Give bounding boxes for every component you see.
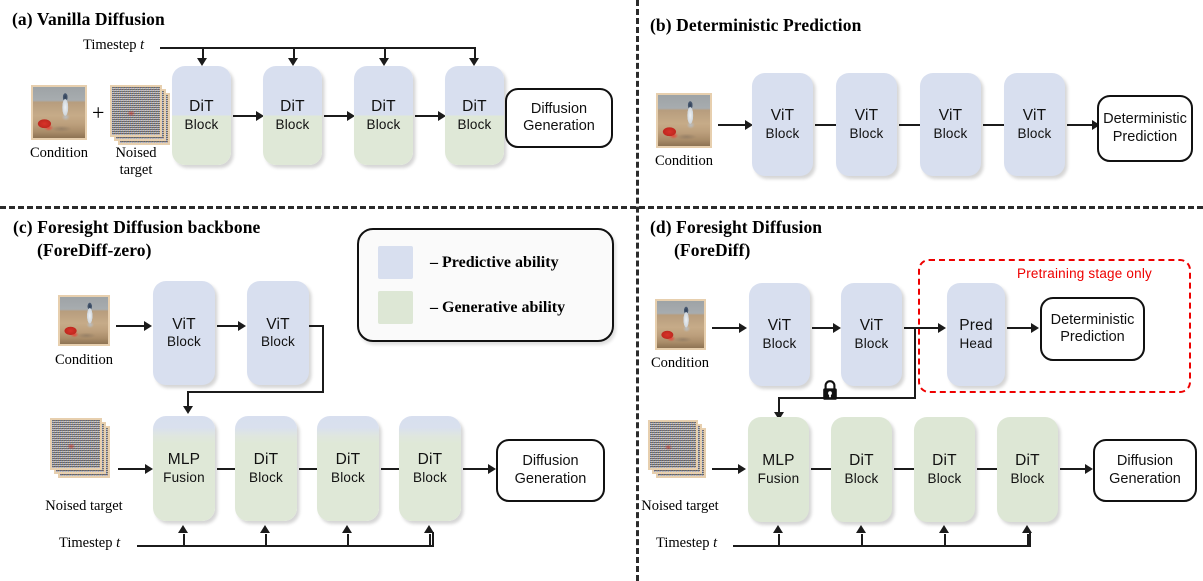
panel-d-vit-block-2[interactable]: ViT Block [841, 283, 902, 386]
panel-d-branch-v [914, 327, 916, 399]
panel-c-vit-block-1[interactable]: ViT Block [153, 281, 215, 385]
panel-c-title-line1: (c) Foresight Diffusion backbone [13, 216, 260, 239]
panel-d-vit-1-line2: Block [762, 337, 796, 351]
panel-c-dit-1-line1: DiT [254, 452, 279, 468]
panel-a-block-1-line2: Block [184, 118, 218, 132]
panel-d-det-output-box[interactable]: Deterministic Prediction [1040, 297, 1145, 361]
panel-d-out-arrow [1085, 464, 1093, 474]
panel-c-t-riser-4 [429, 534, 431, 546]
panel-c-title-line2: (ForeDiff-zero) [37, 239, 152, 262]
legend-item-predictive: – Predictive ability [378, 246, 559, 279]
panel-a-block-3-line1: DiT [371, 99, 396, 115]
panel-d-det-line [1007, 327, 1032, 329]
panel-a-link-1 [233, 115, 257, 117]
panel-d-det-line1: Deterministic [1051, 312, 1135, 329]
panel-d-t-riser-4 [1027, 534, 1029, 546]
panel-c-noised-caption: Noised target [32, 498, 136, 514]
panel-d-title-line1: (d) Foresight Diffusion [650, 216, 822, 239]
panel-d-noise-line [712, 468, 739, 470]
panel-c-t-riser-3 [347, 534, 349, 546]
panel-b-block-4-line2: Block [1017, 127, 1051, 141]
legend-label-generative: – Generative ability [430, 299, 565, 317]
panel-c-vit-link [217, 325, 239, 327]
panel-d-t-arrow-4 [1022, 525, 1032, 533]
panel-b-block-4[interactable]: ViT Block [1004, 73, 1065, 176]
panel-d-mlp-line1: MLP [762, 453, 794, 469]
panel-b-block-1-line2: Block [765, 127, 799, 141]
panel-c-dit-block-2[interactable]: DiT Block [317, 416, 379, 521]
panel-b-out-line [1067, 124, 1093, 126]
panel-a-link-2 [324, 115, 348, 117]
panel-d-dlink-2 [894, 468, 916, 470]
panel-d-mlp-line2: Fusion [758, 472, 800, 486]
lock-icon [820, 379, 838, 399]
panel-a-block-3[interactable]: DiT Block [354, 66, 413, 165]
panel-a-title: (a) Vanilla Diffusion [12, 8, 165, 31]
panel-d-title-line2: (ForeDiff) [674, 239, 750, 262]
panel-d-t-riser-3 [944, 534, 946, 546]
panel-b-block-2-line1: ViT [855, 108, 879, 124]
panel-d-noised-caption: Noised target [628, 498, 732, 514]
panel-a-block-4[interactable]: DiT Block [445, 66, 504, 165]
panel-d-dit-block-3[interactable]: DiT Block [997, 417, 1058, 522]
legend-swatch-predictive [378, 246, 413, 279]
panel-c-output-line1: Diffusion [515, 453, 587, 470]
panel-d-t-arrow-2 [856, 525, 866, 533]
panel-a-timestep-bus [160, 47, 476, 49]
panel-b-block-3-line1: ViT [939, 108, 963, 124]
panel-a-t-arrow-3 [379, 58, 389, 66]
panel-d-t-riser-2 [861, 534, 863, 546]
panel-c-t-riser-2 [265, 534, 267, 546]
panel-b-block-3-line2: Block [933, 127, 967, 141]
panel-c-dit-block-1[interactable]: DiT Block [235, 416, 297, 521]
panel-d-dlink-1 [811, 468, 833, 470]
panel-c-vit-block-2[interactable]: ViT Block [247, 281, 309, 385]
panel-a-link-3 [415, 115, 439, 117]
panel-c-cond-arrow [144, 321, 152, 331]
panel-c-dit-3-line1: DiT [418, 452, 443, 468]
panel-c-dit-2-line1: DiT [336, 452, 361, 468]
panel-a-block-2-line1: DiT [280, 99, 305, 115]
panel-c-t-arrow-4 [424, 525, 434, 533]
panel-c-t-riser-end [432, 532, 434, 546]
panel-a-block-4-line1: DiT [462, 99, 487, 115]
panel-d-noise-arrow [738, 464, 746, 474]
panel-d-out-line [1060, 468, 1086, 470]
panel-a-block-2-line2: Block [275, 118, 309, 132]
panel-c-output-box[interactable]: Diffusion Generation [496, 439, 605, 502]
panel-b-condition-caption: Condition [641, 153, 727, 169]
panel-c-vit-link-arrow [238, 321, 246, 331]
panel-b-block-2-line2: Block [849, 127, 883, 141]
panel-d-branch-h [904, 327, 939, 329]
pretraining-note: Pretraining stage only [1017, 266, 1152, 281]
panel-d-t-riser-1 [778, 534, 780, 546]
panel-d-output-line1: Diffusion [1109, 453, 1181, 470]
panel-d-output-line2: Generation [1109, 471, 1181, 488]
panel-a-output-line2: Generation [523, 118, 595, 135]
panel-d-dit-3-line1: DiT [1015, 453, 1040, 469]
panel-b-block-3[interactable]: ViT Block [920, 73, 981, 176]
panel-c-vit-2-line2: Block [261, 335, 295, 349]
panel-a-timestep-label: Timestep t [83, 37, 144, 54]
panel-c-route-h2 [187, 391, 324, 393]
panel-b-title: (b) Deterministic Prediction [650, 14, 861, 37]
legend-swatch-generative [378, 291, 413, 324]
panel-d-t-arrow-1 [773, 525, 783, 533]
panel-d-vit-link-arrow [833, 323, 841, 333]
panel-c-mlp-line1: MLP [168, 452, 200, 468]
panel-a-output-box[interactable]: Diffusion Generation [505, 88, 613, 148]
panel-a-t-arrow-1 [197, 58, 207, 66]
panel-c-t-arrow-3 [342, 525, 352, 533]
panel-c-vit-2-line1: ViT [266, 317, 290, 333]
panel-d-cond-line [712, 327, 740, 329]
panel-b-output-line2: Prediction [1103, 129, 1187, 146]
panel-c-dit-1-line2: Block [249, 471, 283, 485]
figure-canvas: (a) Vanilla Diffusion Timestep t Conditi… [0, 0, 1203, 581]
legend-item-generative: – Generative ability [378, 291, 565, 324]
panel-d-dit-1-line1: DiT [849, 453, 874, 469]
panel-b-output-box[interactable]: Deterministic Prediction [1097, 95, 1193, 162]
panel-d-cond-arrow [739, 323, 747, 333]
panel-c-condition-caption: Condition [42, 352, 126, 368]
panel-a-t-arrow-4 [469, 58, 479, 66]
panel-d-dit-3-line2: Block [1010, 472, 1044, 486]
panel-c-t-arrow-2 [260, 525, 270, 533]
panel-b-block-1[interactable]: ViT Block [752, 73, 813, 176]
panel-d-dit-1-line2: Block [844, 472, 878, 486]
panel-a-t-arrow-2 [288, 58, 298, 66]
panel-b-block-2[interactable]: ViT Block [836, 73, 897, 176]
panel-c-cond-line [116, 325, 145, 327]
panel-d-dit-2-line1: DiT [932, 453, 957, 469]
panel-c-out-arrow [488, 464, 496, 474]
legend-box: – Predictive ability – Generative abilit… [357, 228, 614, 342]
panel-c-t-riser-1 [183, 534, 185, 546]
panel-b-output-line1: Deterministic [1103, 111, 1187, 128]
panel-c-dit-block-3[interactable]: DiT Block [399, 416, 461, 521]
panel-c-t-arrow-1 [178, 525, 188, 533]
panel-divider-vertical [636, 0, 639, 581]
panel-a-plus-sign: + [92, 100, 104, 126]
panel-d-det-line2: Prediction [1051, 329, 1135, 346]
panel-d-output-box[interactable]: Diffusion Generation [1093, 439, 1197, 502]
panel-c-out-line [463, 468, 489, 470]
panel-c-noise-line [118, 468, 146, 470]
panel-divider-horizontal [0, 206, 1203, 209]
panel-d-vit-1-line1: ViT [768, 318, 792, 334]
legend-label-predictive: – Predictive ability [430, 254, 559, 272]
panel-c-route-arrow [183, 406, 193, 414]
panel-a-noised-caption-1: Noised [96, 145, 176, 161]
panel-d-predhead-arrow [938, 323, 946, 333]
panel-a-block-3-line2: Block [366, 118, 400, 132]
panel-c-vit-1-line2: Block [167, 335, 201, 349]
panel-d-condition-caption: Condition [638, 355, 722, 371]
panel-d-vit-2-line1: ViT [860, 318, 884, 334]
panel-d-predhead-line2: Head [959, 337, 992, 351]
panel-d-vit-link [812, 327, 834, 329]
panel-a-block-1-line1: DiT [189, 99, 214, 115]
panel-c-noise-arrow [145, 464, 153, 474]
panel-d-dit-block-2[interactable]: DiT Block [914, 417, 975, 522]
panel-b-block-4-line1: ViT [1023, 108, 1047, 124]
panel-c-output-line2: Generation [515, 471, 587, 488]
panel-c-dit-2-line2: Block [331, 471, 365, 485]
panel-b-input-line [718, 124, 746, 126]
panel-c-vit-1-line1: ViT [172, 317, 196, 333]
panel-c-mlp-line2: Fusion [163, 471, 205, 485]
panel-d-predhead-line1: Pred [959, 318, 993, 334]
panel-c-mlp-fusion-block[interactable]: MLP Fusion [153, 416, 215, 521]
panel-d-branch-h2 [778, 397, 916, 399]
panel-d-t-arrow-3 [939, 525, 949, 533]
panel-d-dlink-3 [977, 468, 999, 470]
panel-d-timestep-label: Timestep t [656, 535, 717, 552]
panel-d-det-arrow [1031, 323, 1039, 333]
panel-d-vit-block-1[interactable]: ViT Block [749, 283, 810, 386]
panel-a-output-line1: Diffusion [523, 101, 595, 118]
panel-a-noised-caption-2: target [96, 162, 176, 178]
panel-d-dit-block-1[interactable]: DiT Block [831, 417, 892, 522]
panel-c-route-v1 [322, 325, 324, 393]
panel-a-block-1[interactable]: DiT Block [172, 66, 231, 165]
panel-b-block-1-line1: ViT [771, 108, 795, 124]
panel-d-mlp-fusion-block[interactable]: MLP Fusion [748, 417, 809, 522]
panel-a-block-2[interactable]: DiT Block [263, 66, 322, 165]
panel-d-pred-head-block[interactable]: Pred Head [947, 283, 1005, 386]
panel-c-timestep-label: Timestep t [59, 535, 120, 552]
panel-c-dit-3-line2: Block [413, 471, 447, 485]
panel-a-condition-caption: Condition [16, 145, 102, 161]
panel-d-vit-2-line2: Block [854, 337, 888, 351]
panel-a-block-4-line2: Block [457, 118, 491, 132]
panel-c-timestep-bus [137, 545, 434, 547]
panel-d-dit-2-line2: Block [927, 472, 961, 486]
